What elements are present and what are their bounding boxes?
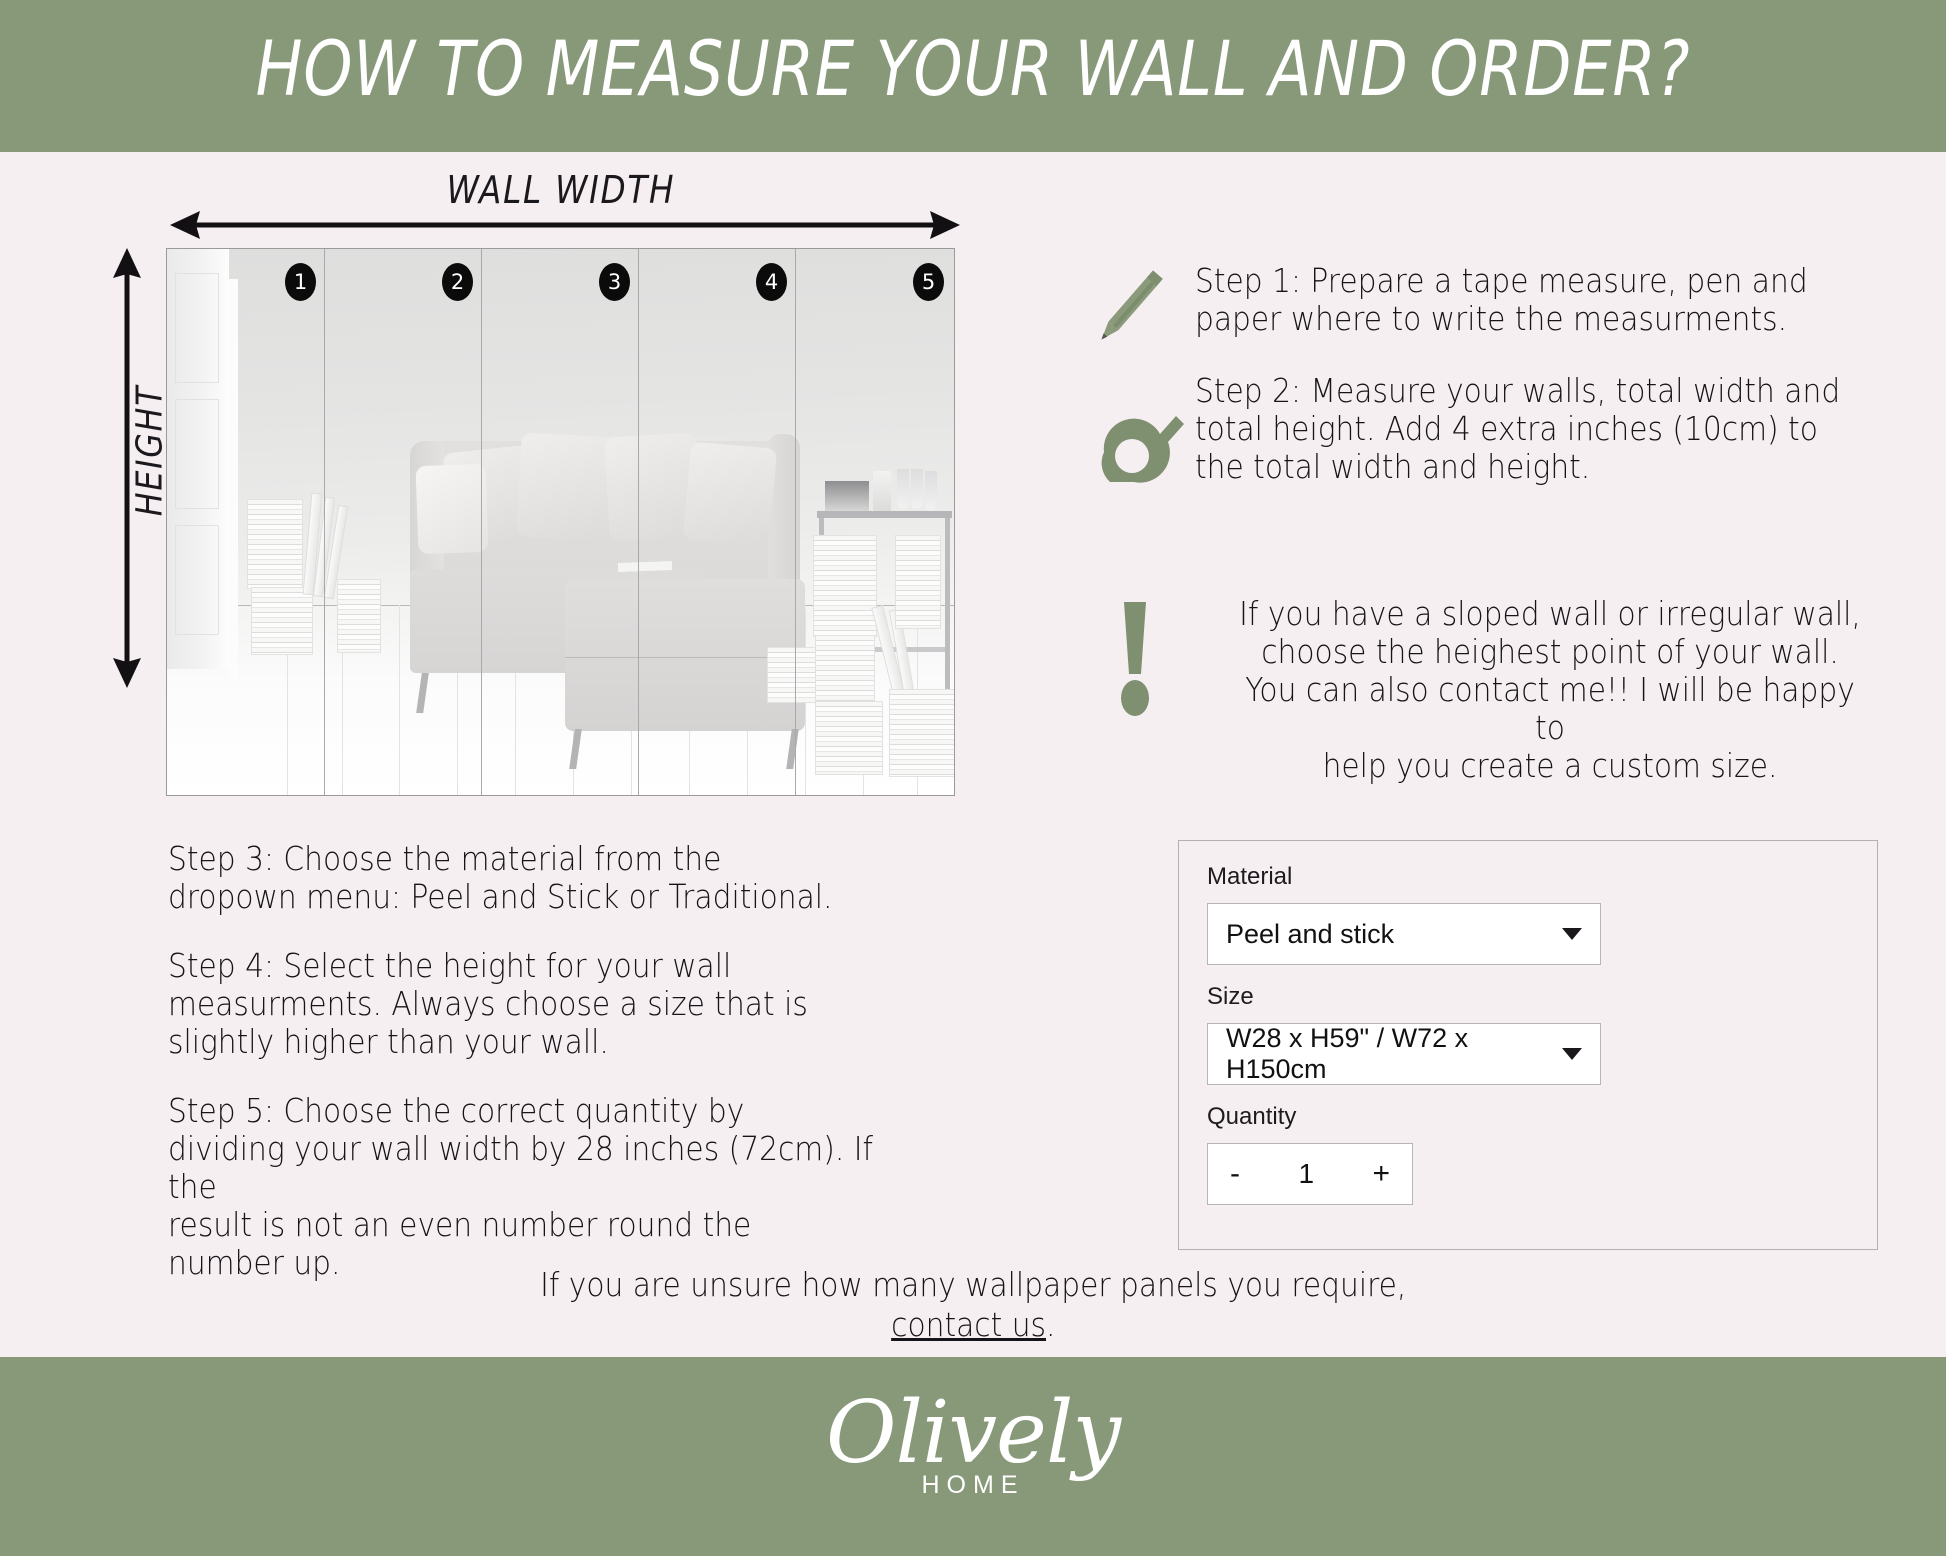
- poster-canvas: HOW TO MEASURE YOUR WALL AND ORDER? WALL…: [0, 0, 1946, 1556]
- contact-us-link[interactable]: contact us: [891, 1305, 1046, 1344]
- pillow: [683, 441, 777, 546]
- quantity-stepper[interactable]: - 1 +: [1207, 1143, 1413, 1205]
- contact-period: .: [1046, 1305, 1055, 1344]
- glassware: [897, 469, 909, 509]
- pencil-icon: [1082, 258, 1178, 354]
- contact-line-text: If you are unsure how many wallpaper pan…: [540, 1265, 1406, 1305]
- exclamation-icon: [1112, 598, 1158, 720]
- step-2-text: Step 2: Measure your walls, total width …: [1195, 372, 1840, 486]
- chevron-down-icon: [1562, 1048, 1582, 1060]
- glassware: [925, 471, 937, 511]
- note-row: If you have a sloped wall or irregular w…: [1190, 595, 1910, 785]
- door: [167, 249, 230, 669]
- table-object: [825, 481, 869, 511]
- logo-subtitle: HOME: [0, 1471, 1946, 1500]
- material-label: Material: [1207, 863, 1849, 891]
- door-edge: [229, 279, 238, 679]
- wall-height-label: HEIGHT: [130, 354, 171, 548]
- brand-logo: Olively HOME: [0, 1385, 1946, 1500]
- step-2-row: Step 2: Measure your walls, total width …: [1195, 372, 1915, 486]
- wall-width-arrow-icon: [170, 208, 960, 242]
- step-5-text: Step 5: Choose the correct quantity by d…: [168, 1092, 906, 1282]
- panel-divider: [638, 249, 639, 795]
- glassware: [911, 469, 923, 509]
- panel-marker-4: 4: [756, 263, 787, 301]
- table-object: [873, 471, 891, 511]
- panel-marker-1: 1: [285, 263, 316, 301]
- contact-line: If you are unsure how many wallpaper pan…: [0, 1265, 1946, 1345]
- size-label: Size: [1207, 983, 1849, 1011]
- order-form-panel: Material Peel and stick Size W28 x H59" …: [1178, 840, 1878, 1250]
- chevron-down-icon: [1562, 928, 1582, 940]
- tape-measure-icon: [1098, 400, 1190, 492]
- panel-marker-3: 3: [599, 263, 630, 301]
- pillow: [415, 464, 488, 554]
- panel-marker-5: 5: [913, 263, 944, 301]
- step-1-text: Step 1: Prepare a tape measure, pen and …: [1195, 262, 1808, 338]
- side-table-top: [817, 511, 952, 518]
- quantity-value: 1: [1298, 1158, 1314, 1190]
- note-text: If you have a sloped wall or irregular w…: [1226, 595, 1874, 785]
- panel-divider: [324, 249, 325, 795]
- wall-preview-photo: 1 2 3 4 5: [166, 248, 955, 796]
- material-select[interactable]: Peel and stick: [1207, 903, 1601, 965]
- material-selected-value: Peel and stick: [1226, 919, 1562, 950]
- step-4-text: Step 4: Select the height for your wall …: [168, 947, 852, 1061]
- step-1-row: Step 1: Prepare a tape measure, pen and …: [1195, 262, 1895, 338]
- page-title: HOW TO MEASURE YOUR WALL AND ORDER?: [175, 24, 1771, 113]
- size-select[interactable]: W28 x H59" / W72 x H150cm: [1207, 1023, 1601, 1085]
- quantity-increment-button[interactable]: +: [1372, 1157, 1390, 1191]
- panel-marker-2: 2: [442, 263, 473, 301]
- step-3-text: Step 3: Choose the material from the dro…: [168, 840, 852, 916]
- size-selected-value: W28 x H59" / W72 x H150cm: [1226, 1023, 1562, 1085]
- panel-divider: [481, 249, 482, 795]
- quantity-label: Quantity: [1207, 1103, 1849, 1131]
- wall-width-label: WALL WIDTH: [221, 168, 900, 212]
- logo-wordmark: Olively: [0, 1385, 1946, 1481]
- pillow: [516, 433, 617, 542]
- quantity-decrement-button[interactable]: -: [1230, 1157, 1240, 1191]
- panel-divider: [795, 249, 796, 795]
- booklet-on-sofa: [617, 560, 673, 573]
